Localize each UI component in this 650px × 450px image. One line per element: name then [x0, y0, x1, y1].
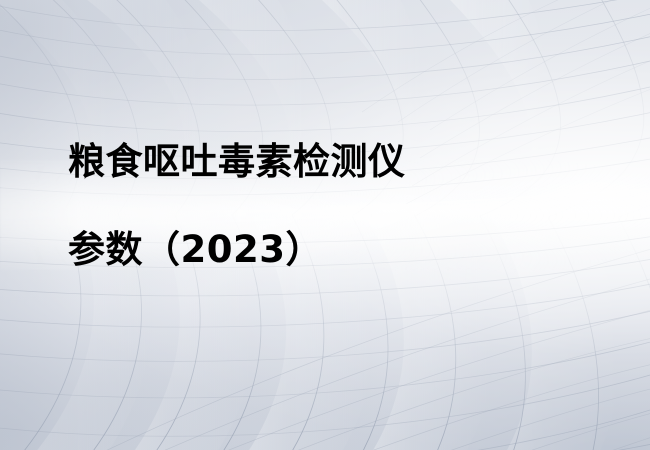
title-line-1: 粮食呕吐毒素检测仪 [68, 118, 406, 206]
title-line-2: 参数（2023） [68, 206, 406, 294]
title-banner: 粮食呕吐毒素检测仪 参数（2023） [0, 0, 650, 450]
page-title: 粮食呕吐毒素检测仪 参数（2023） [68, 118, 406, 294]
